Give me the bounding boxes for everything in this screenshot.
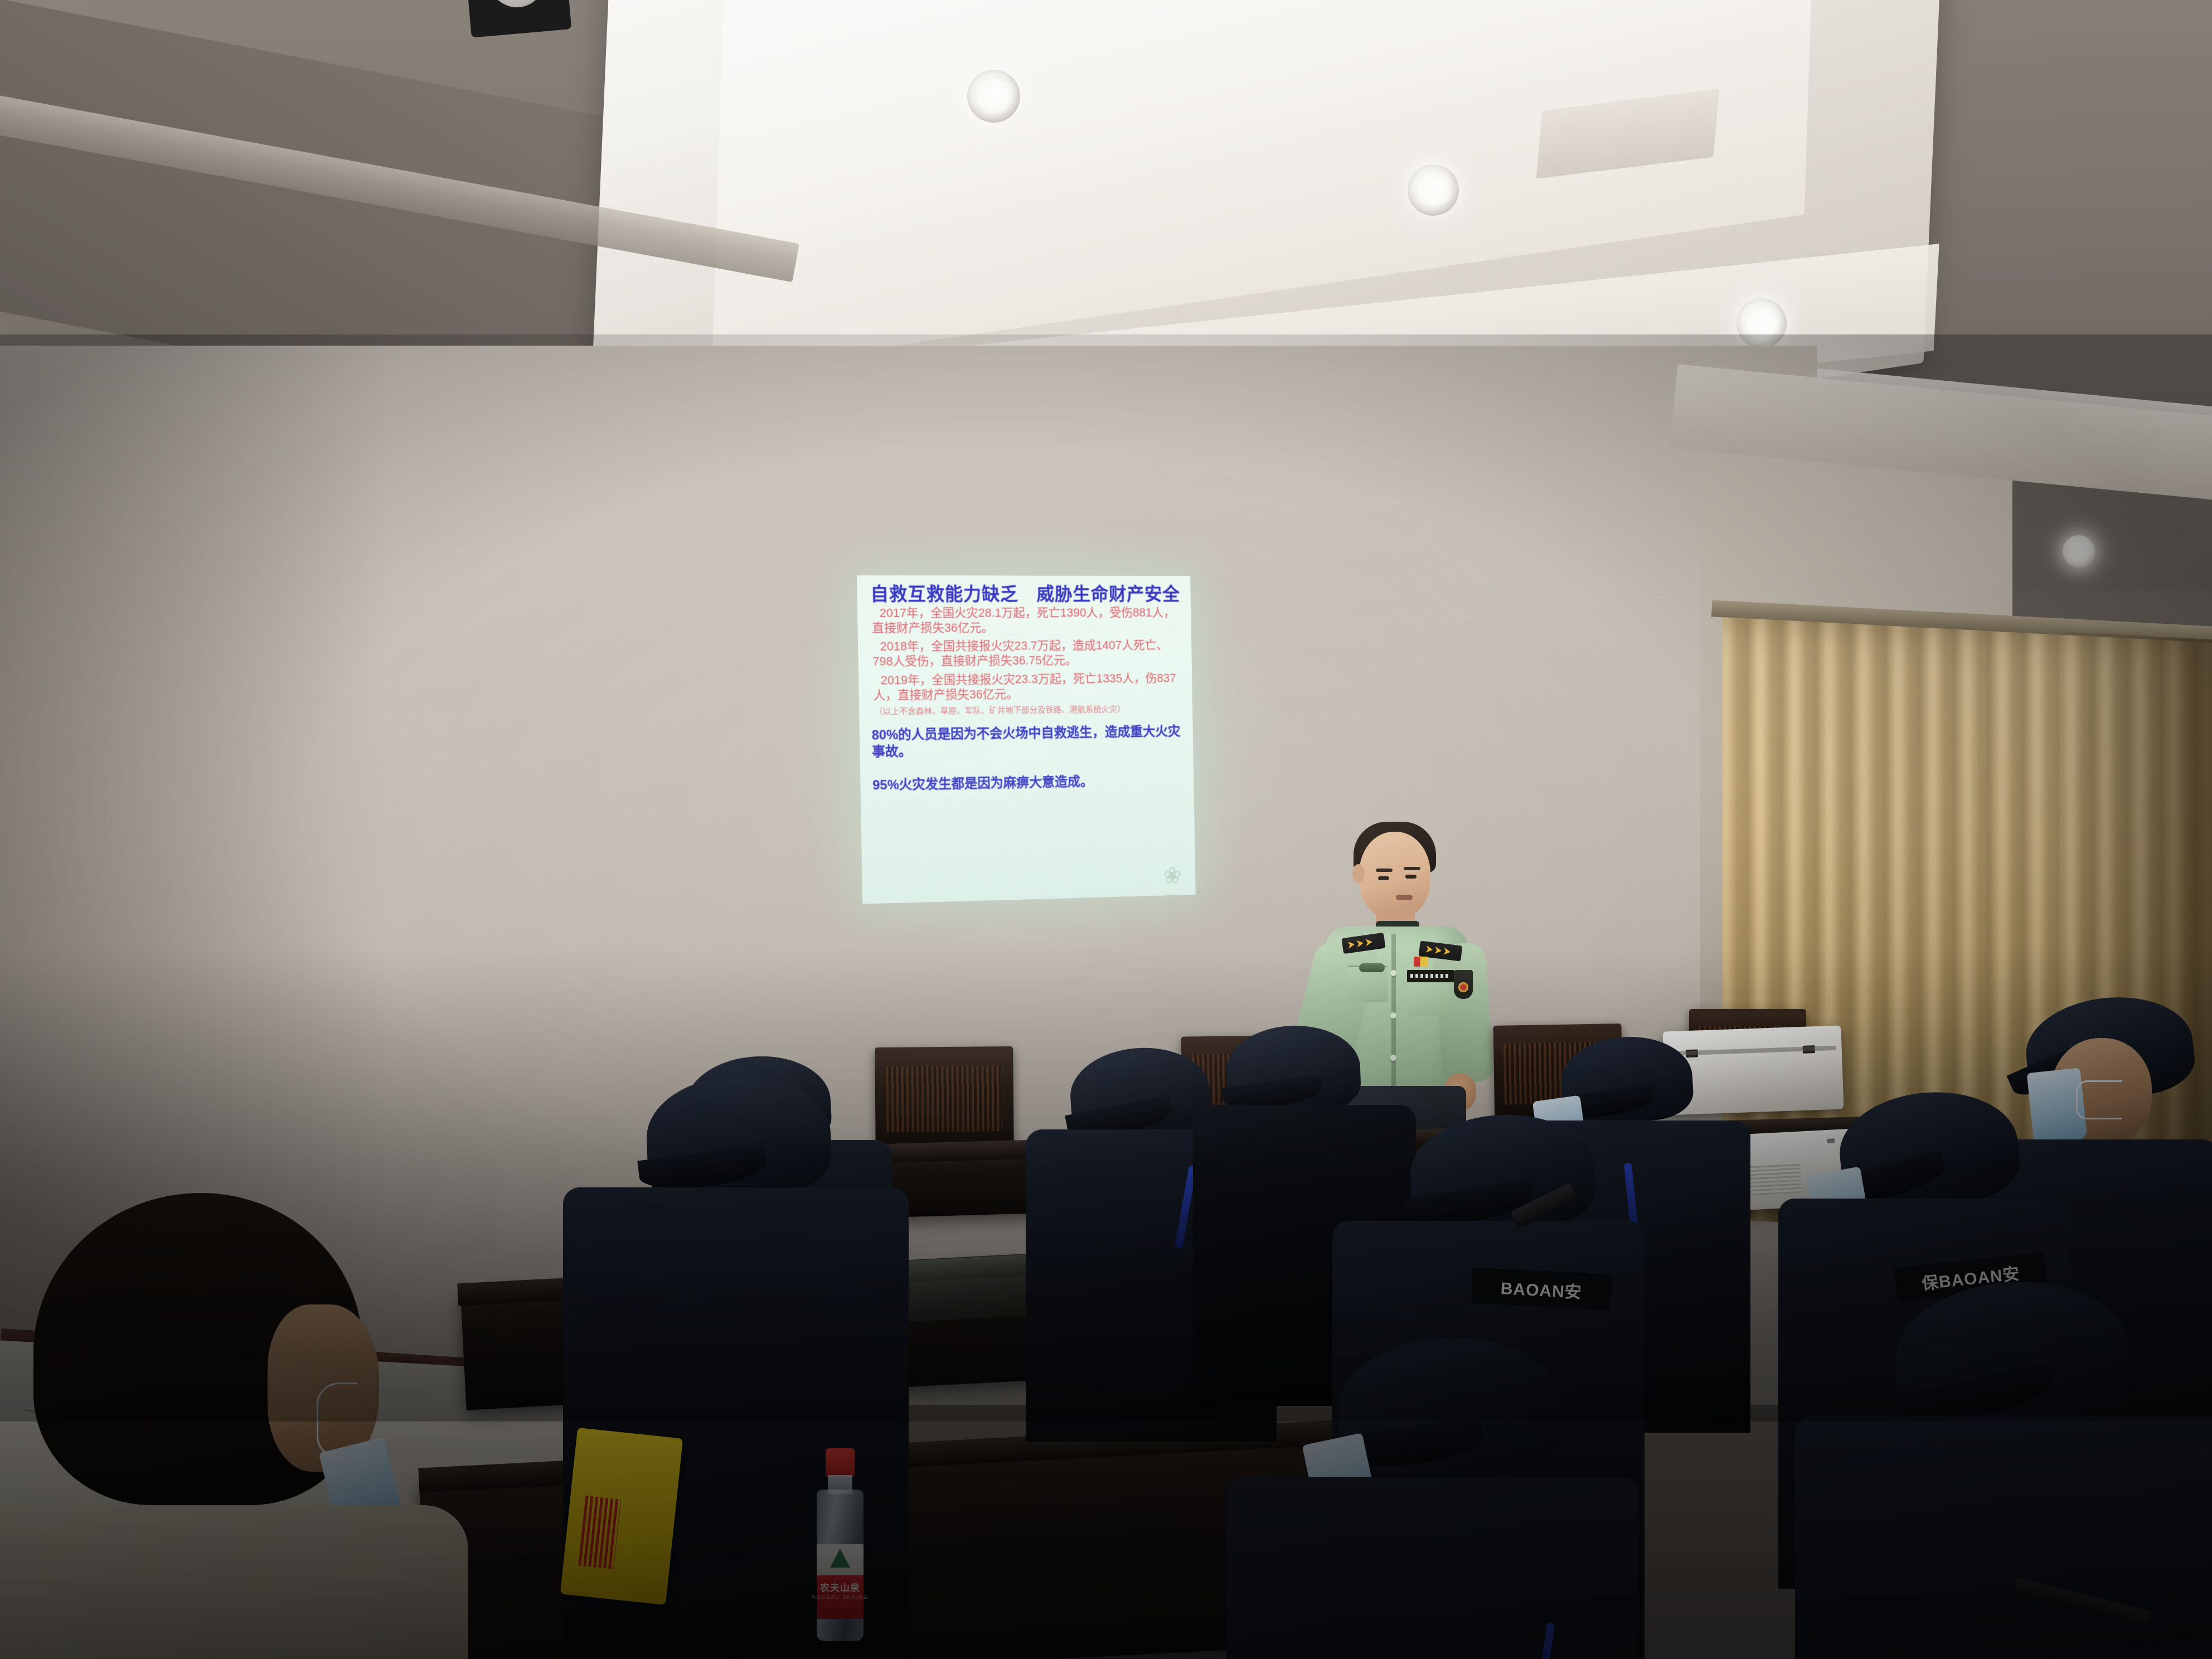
downlight-icon (1736, 298, 1787, 348)
water-bottle: 农夫山泉 NONGFU SPRING (811, 1448, 869, 1642)
presenter-nametag (1407, 970, 1454, 982)
downlight-icon (967, 70, 1020, 123)
presenter-eye (1405, 875, 1417, 879)
downlight-icon (1408, 164, 1459, 216)
slide-emphasis: 95%火灾发生都是因为麻痹大意造成。 (872, 772, 1186, 794)
guard-torso (1226, 1477, 1639, 1659)
slide-title-right: 威胁生命财产安全 (1036, 584, 1180, 604)
bottle-brand-cn: 农夫山泉 (811, 1580, 869, 1594)
uniform-back-patch: BAOAN安 (1471, 1268, 1612, 1311)
slide-emphasis: 80%的人员是因为不会火场中自救逃生，造成重大火灾事故。 (872, 724, 1186, 760)
stat-line: 2018年，全国共接报火灾23.7万起，造成1407人死亡、798人受伤，直接财… (872, 638, 1185, 670)
slide-title-left: 自救互救能力缺乏 (870, 584, 1018, 604)
projector-indicator-icon (1827, 1138, 1835, 1143)
bottle-cap (826, 1448, 855, 1477)
presenter-wing-badge (1359, 963, 1385, 972)
presenter-brow (1404, 867, 1420, 870)
stat-line: 2017年，全国火灾28.1万起，死亡1390人，受伤881人，直接财产损失36… (872, 605, 1184, 636)
presenter-shirt-button (1390, 970, 1396, 976)
presenter-mouth (1396, 895, 1413, 900)
mask-strap (317, 1382, 357, 1458)
projected-slide: 自救互救能力缺乏威胁生命财产安全 2017年，全国火灾28.1万起，死亡1390… (857, 575, 1196, 904)
training-room-photo: 自救互救能力缺乏威胁生命财产安全 2017年，全国火灾28.1万起，死亡1390… (0, 0, 2212, 1659)
presenter-head (1359, 832, 1430, 919)
person-shirt (0, 1505, 468, 1659)
presenter-shirt-button (1390, 1055, 1396, 1061)
downlight-icon (2063, 535, 2095, 567)
guard-torso (1795, 1416, 2212, 1659)
presenter-chest-pocket (1408, 980, 1449, 1016)
presenter-brow (1376, 869, 1393, 872)
slide-title: 自救互救能力缺乏威胁生命财产安全 (870, 584, 1183, 604)
slide-footnote: （以上不含森林、草原、军队、矿井地下部分及铁路、港航系统火灾） (875, 704, 1185, 717)
stat-line: 2019年，全国共接报火灾23.3万起，死亡1335人，伤837人，直接财产损失… (873, 670, 1185, 702)
presenter-shoulder-patch (1454, 970, 1473, 999)
bottle-brand-en: NONGFU SPRING (811, 1594, 869, 1600)
presenter-flag-pin (1414, 957, 1428, 967)
bottle-mountain-icon (830, 1549, 850, 1568)
mask-strap (2076, 1080, 2122, 1119)
armband (560, 1428, 683, 1605)
presenter-eye (1378, 876, 1389, 880)
empty-chair (875, 1046, 1014, 1153)
presenter-shirt-button (1390, 1012, 1396, 1018)
presenter-ear (1352, 864, 1365, 883)
slide-statistics: 2017年，全国火灾28.1万起，死亡1390人，受伤881人，直接财产损失36… (866, 605, 1185, 703)
uniform-back-text: BAOAN安 (1500, 1274, 1583, 1303)
slide-watermark-icon: ❀ (1157, 860, 1187, 891)
